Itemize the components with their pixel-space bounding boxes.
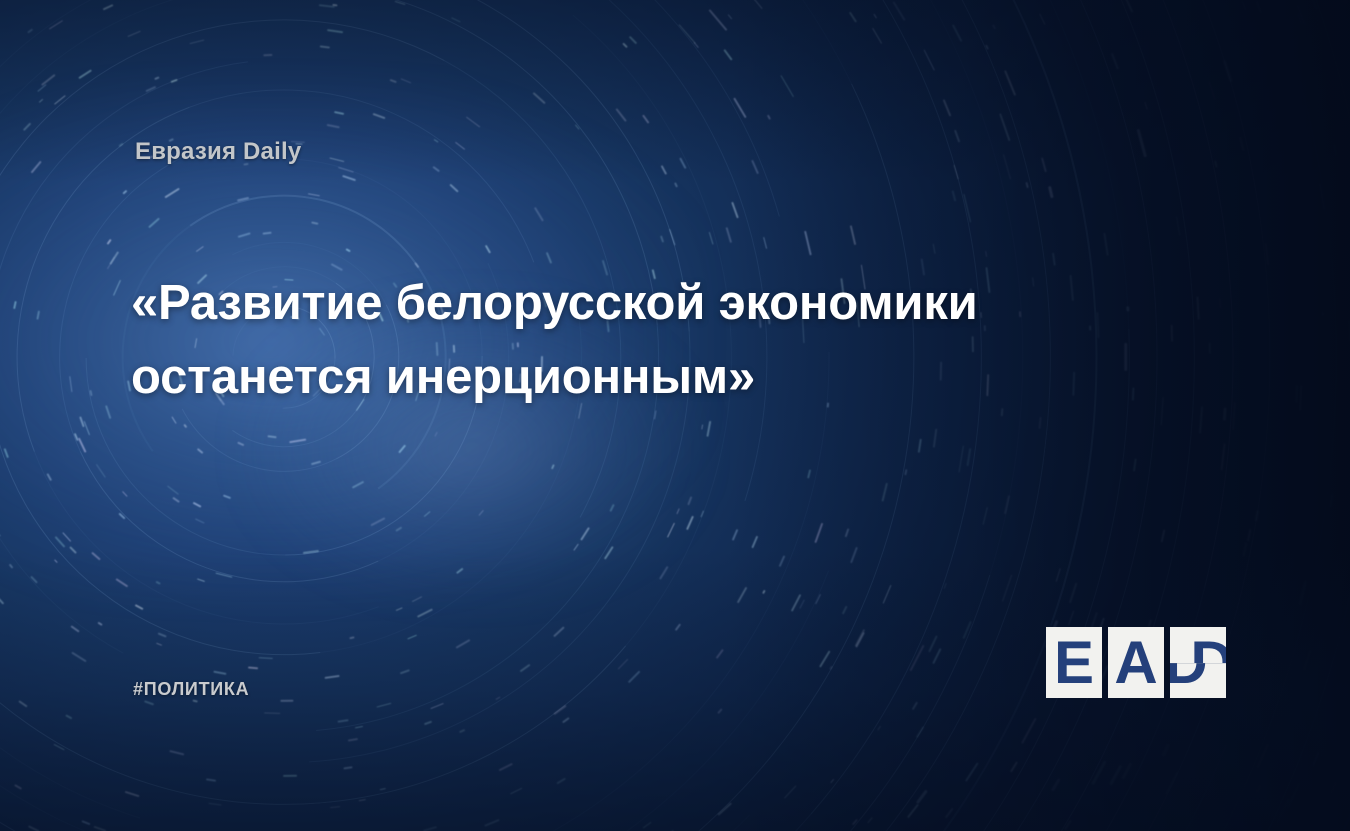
logo-letter-d-top: D [1184,627,1226,663]
eadaily-logo[interactable]: E A D D [1046,627,1226,698]
logo-letter-a: A [1114,633,1157,693]
logo-letter-d-top-half: D [1170,627,1226,663]
headline-line-2: останется инерционным» [131,340,1131,414]
logo-letter-d-bottom: D [1170,663,1214,699]
eadaily-share-card: Евразия Daily «Развитие белорусской экон… [0,0,1350,831]
brand-name: Евразия Daily [135,138,301,166]
headline-line-1: «Развитие белорусской экономики [131,266,1131,340]
logo-tile-e: E [1046,627,1102,698]
page-title: «Развитие белорусской экономики останетс… [131,266,1131,415]
logo-tile-seam [1170,663,1226,664]
logo-letter-e: E [1054,633,1094,693]
logo-tile-d: D D [1170,627,1226,698]
logo-tile-a: A [1108,627,1164,698]
logo-letter-d-bottom-half: D [1170,663,1226,699]
star-trail-background [0,0,1350,831]
category-tag[interactable]: #ПОЛИТИКА [133,679,249,700]
